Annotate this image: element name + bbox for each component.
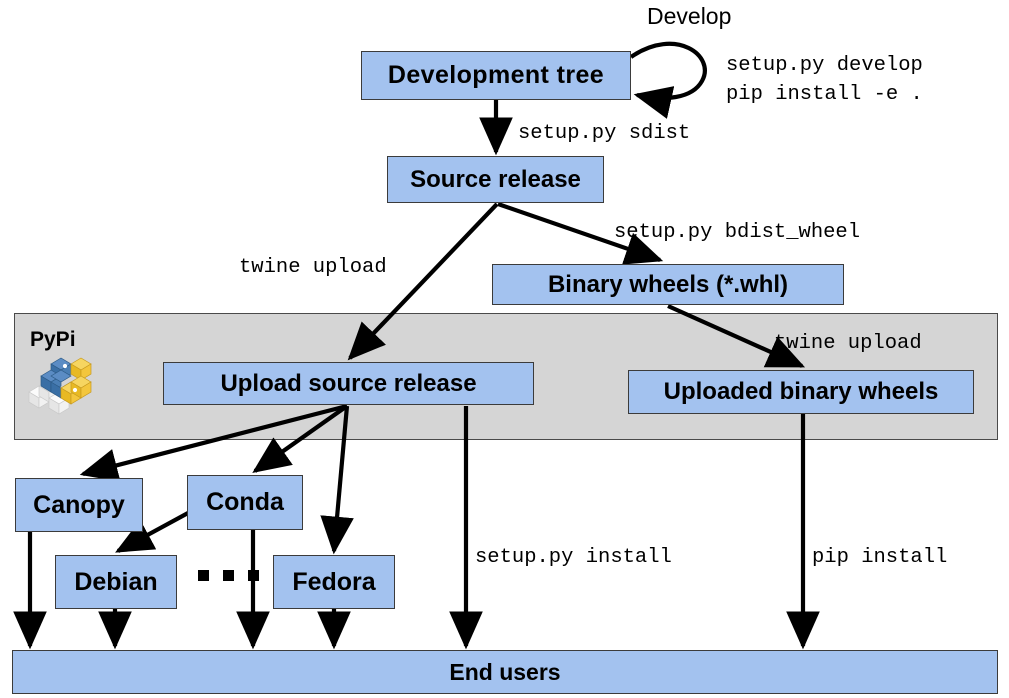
label-twine-upload-wheels: twine upload (774, 330, 922, 357)
label-pip-install: pip install (812, 544, 947, 571)
label-setup-py-develop: setup.py develop (726, 52, 923, 79)
label-setup-py-sdist: setup.py sdist (518, 120, 690, 147)
diagram-canvas: PyPi (0, 0, 1009, 698)
label-setup-py-install: setup.py install (475, 544, 672, 571)
node-uploaded-binary-wheels[interactable]: Uploaded binary wheels (628, 370, 974, 414)
node-end-users[interactable]: End users (12, 650, 998, 694)
node-development-tree[interactable]: Development tree (361, 51, 631, 100)
node-conda[interactable]: Conda (187, 475, 303, 530)
label-setup-py-bdist-wheel: setup.py bdist_wheel (614, 219, 860, 246)
label-twine-upload-source: twine upload (239, 254, 387, 281)
node-source-release[interactable]: Source release (387, 156, 604, 203)
ellipsis-dot (223, 570, 234, 581)
node-debian[interactable]: Debian (55, 555, 177, 609)
edge-develop-self (631, 44, 705, 98)
node-canopy[interactable]: Canopy (15, 478, 143, 532)
label-develop: Develop (647, 3, 731, 30)
node-binary-wheels[interactable]: Binary wheels (*.whl) (492, 264, 844, 305)
label-pip-install-editable: pip install -e . (726, 81, 923, 108)
more-distros-ellipsis (198, 570, 259, 581)
edge-upload-to-canopy (83, 406, 347, 474)
ellipsis-dot (248, 570, 259, 581)
node-fedora[interactable]: Fedora (273, 555, 395, 609)
ellipsis-dot (198, 570, 209, 581)
node-upload-source-release[interactable]: Upload source release (163, 362, 534, 405)
edge-upload-to-fedora (334, 406, 347, 551)
